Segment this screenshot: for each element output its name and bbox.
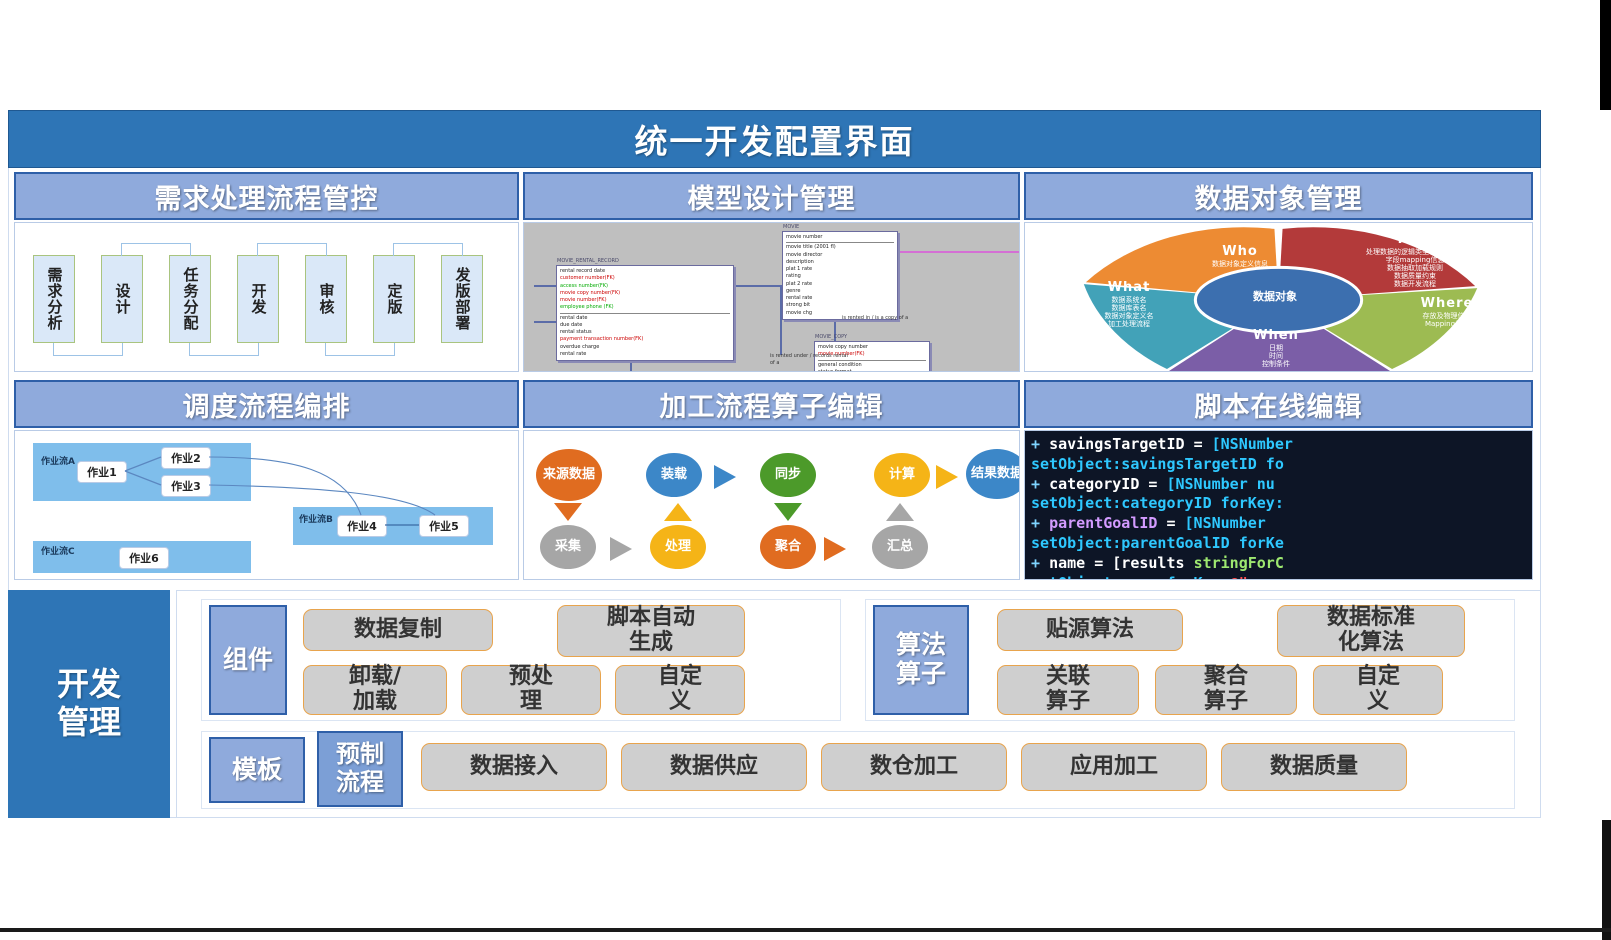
er-note-0: is rented in / is a copy of a xyxy=(842,315,922,322)
code-line-4: + parentGoalID = [NSNumber xyxy=(1031,514,1532,534)
dev-chip-standardization-algorithm[interactable]: 数据标准化算法 xyxy=(1277,605,1465,657)
er-table-title-0: MOVIE_RENTAL_RECORD xyxy=(557,258,619,265)
dev-management-title: 开发管理 xyxy=(8,590,170,818)
code-line-7: setObject:name forKey:@"nam xyxy=(1031,574,1532,579)
dev-chip-join-operator[interactable]: 关联算子 xyxy=(997,665,1139,715)
er-table-title-1: MOVIE xyxy=(783,224,799,231)
five-w-wheel[interactable] xyxy=(1025,223,1532,371)
dev-category-template[interactable]: 模板 xyxy=(209,737,305,803)
job-flow-c-label: 作业流C xyxy=(41,547,75,558)
operator-process[interactable]: 处理 xyxy=(650,525,706,569)
bottom-edge-strip xyxy=(0,928,1611,932)
dev-chip-preprocess[interactable]: 预处理 xyxy=(461,665,601,715)
panel-body-script: + + savingsTargetID = [NSNumbersavingsTa… xyxy=(1024,430,1533,580)
operator-collect[interactable]: 采集 xyxy=(540,525,596,569)
operator-load[interactable]: 装载 xyxy=(646,453,702,497)
er-diagram[interactable]: MOVIE_RENTAL_RECORD rental record date c… xyxy=(524,223,1019,371)
dev-chip-data-quality[interactable]: 数据质量 xyxy=(1221,743,1407,791)
code-line-6: + name = [results stringForC xyxy=(1031,554,1532,574)
code-line-3: setObject:categoryID forKey: xyxy=(1031,494,1532,514)
panel-header-operator[interactable]: 加工流程算子编辑 xyxy=(523,380,1020,428)
flow-connector-top-3 xyxy=(393,243,463,256)
arrow-down-green-icon xyxy=(774,503,802,521)
right-edge-strip xyxy=(1600,0,1611,110)
dev-management-body: 组件 数据复制 脚本自动生成 卸载/加载 预处理 自定义 算法算子 贴源算法 数… xyxy=(176,590,1541,818)
code-line-1: setObject:savingsTargetID fo xyxy=(1031,455,1532,475)
bottom-right-edge-strip xyxy=(1602,820,1611,940)
operator-sync[interactable]: 同步 xyxy=(760,453,816,497)
arrow-right-orange-icon xyxy=(824,537,846,561)
dev-category-algorithms[interactable]: 算法算子 xyxy=(873,605,969,715)
er-line-pink xyxy=(880,251,1020,253)
job-node-2[interactable]: 作业2 xyxy=(161,447,211,469)
operator-aggregate[interactable]: 聚合 xyxy=(760,525,816,569)
dev-chip-custom-2[interactable]: 自定义 xyxy=(1313,665,1443,715)
column-right: 数据对象管理 Who 数据对象定义信息 How 处理数据的逻辑类型名称及规则 字… xyxy=(1024,172,1533,584)
flow-step-4[interactable]: 审核 xyxy=(305,255,347,343)
column-middle: 模型设计管理 MOVIE_RENTAL_RECORD rental record… xyxy=(523,172,1020,584)
flow-step-1[interactable]: 设计 xyxy=(101,255,143,343)
flow-step-2[interactable]: 任务分配 xyxy=(169,255,211,343)
panel-header-requirement-label: 需求处理流程管控 xyxy=(155,177,379,216)
page-title: 统一开发配置界面 xyxy=(8,110,1541,168)
panel-header-script[interactable]: 脚本在线编辑 xyxy=(1024,380,1533,428)
flow-step-0[interactable]: 需求分析 xyxy=(33,255,75,343)
arrow-right-yellow-icon xyxy=(936,465,958,489)
job-node-6[interactable]: 作业6 xyxy=(119,547,169,569)
arrow-down-orange-icon xyxy=(554,503,582,521)
panel-header-script-label: 脚本在线编辑 xyxy=(1195,385,1363,424)
panel-header-model-label: 模型设计管理 xyxy=(688,177,856,216)
dev-chip-custom-1[interactable]: 自定义 xyxy=(615,665,745,715)
dev-chip-data-copy[interactable]: 数据复制 xyxy=(303,609,493,651)
panel-header-operator-label: 加工流程算子编辑 xyxy=(660,385,884,424)
er-table-title-2: MOVIE_COPY xyxy=(815,334,847,341)
er-table-movie[interactable]: MOVIE movie number movie title (2001 fl)… xyxy=(782,231,898,320)
er-table-movie-rental-record[interactable]: MOVIE_RENTAL_RECORD rental record date c… xyxy=(556,265,734,361)
flow-step-5[interactable]: 定版 xyxy=(373,255,415,343)
panel-header-schedule[interactable]: 调度流程编排 xyxy=(14,380,519,428)
flow-step-3[interactable]: 开发 xyxy=(237,255,279,343)
panel-body-model: MOVIE_RENTAL_RECORD rental record date c… xyxy=(523,222,1020,372)
panel-header-object[interactable]: 数据对象管理 xyxy=(1024,172,1533,220)
arrow-up-gray-icon xyxy=(886,503,914,521)
panel-header-requirement[interactable]: 需求处理流程管控 xyxy=(14,172,519,220)
flow-connector-bottom-1 xyxy=(53,343,123,356)
wheel-center xyxy=(1195,267,1361,332)
job-flow-a[interactable] xyxy=(33,443,251,501)
job-node-3[interactable]: 作业3 xyxy=(161,475,211,497)
dev-chip-warehouse-processing[interactable]: 数仓加工 xyxy=(821,743,1007,791)
panel-grid: 需求处理流程管控 需求分析 设计 任务分配 开发 审核 定版 发版部署 调度流程… xyxy=(14,172,1533,584)
arrow-right-blue-icon xyxy=(714,465,736,489)
operator-calc[interactable]: 计算 xyxy=(874,453,930,497)
job-flow-a-label: 作业流A xyxy=(41,457,75,468)
operator-result-data[interactable]: 结果数据 xyxy=(966,449,1020,499)
dev-category-preset-flow[interactable]: 预制流程 xyxy=(317,731,403,807)
dev-chip-script-autogen[interactable]: 脚本自动生成 xyxy=(557,605,745,657)
job-node-5[interactable]: 作业5 xyxy=(419,515,469,537)
job-node-4[interactable]: 作业4 xyxy=(337,515,387,537)
panel-body-operator: 来源数据 装载 同步 计算 结果数据 采集 处理 聚合 汇总 xyxy=(523,430,1020,580)
arrow-up-yellow-icon xyxy=(664,503,692,521)
code-line-5: setObject:parentGoalID forKe xyxy=(1031,534,1532,554)
code-line-2: + categoryID = [NSNumber nu xyxy=(1031,475,1532,495)
dev-chip-data-supply[interactable]: 数据供应 xyxy=(621,743,807,791)
job-flow-b-label: 作业流B xyxy=(299,515,333,526)
page-title-text: 统一开发配置界面 xyxy=(635,115,915,163)
dev-management-title-text: 开发管理 xyxy=(57,666,121,742)
panel-body-object: Who 数据对象定义信息 How 处理数据的逻辑类型名称及规则 字段mappin… xyxy=(1024,222,1533,372)
flow-connector-bottom-2 xyxy=(189,343,259,356)
panel-body-schedule: 作业流A 作业1 作业2 作业3 作业流B 作业4 作业5 作业流C 作业6 xyxy=(14,430,519,580)
panel-body-requirement: 需求分析 设计 任务分配 开发 审核 定版 发版部署 xyxy=(14,222,519,372)
code-line-0: + + savingsTargetID = [NSNumbersavingsTa… xyxy=(1031,435,1532,455)
panel-header-object-label: 数据对象管理 xyxy=(1195,177,1363,216)
code-editor[interactable]: + + savingsTargetID = [NSNumbersavingsTa… xyxy=(1025,431,1532,579)
dev-chip-unload-load[interactable]: 卸载/加载 xyxy=(303,665,447,715)
er-note-1: is rented under / records rental of a xyxy=(770,353,854,366)
dev-chip-source-algorithm[interactable]: 贴源算法 xyxy=(997,609,1183,651)
development-management: 开发管理 组件 数据复制 脚本自动生成 卸载/加载 预处理 自定义 算法算子 贴… xyxy=(8,590,1541,818)
panel-header-model[interactable]: 模型设计管理 xyxy=(523,172,1020,220)
operator-summary[interactable]: 汇总 xyxy=(872,525,928,569)
job-node-1[interactable]: 作业1 xyxy=(77,461,127,483)
dev-chip-data-ingest[interactable]: 数据接入 xyxy=(421,743,607,791)
flow-connector-bottom-3 xyxy=(325,343,395,356)
dev-chip-application-processing[interactable]: 应用加工 xyxy=(1021,743,1207,791)
arrow-right-gray-icon xyxy=(610,537,632,561)
requirement-flow: 需求分析 设计 任务分配 开发 审核 定版 发版部署 xyxy=(33,237,503,361)
flow-connector-top-2 xyxy=(257,243,327,256)
panel-header-schedule-label: 调度流程编排 xyxy=(183,385,351,424)
dev-chip-aggregate-operator[interactable]: 聚合算子 xyxy=(1155,665,1297,715)
dev-category-components[interactable]: 组件 xyxy=(209,605,287,715)
flow-step-6[interactable]: 发版部署 xyxy=(441,255,483,343)
flow-connector-top-1 xyxy=(121,243,191,256)
column-left: 需求处理流程管控 需求分析 设计 任务分配 开发 审核 定版 发版部署 调度流程… xyxy=(14,172,519,584)
operator-source-data[interactable]: 来源数据 xyxy=(536,449,602,501)
